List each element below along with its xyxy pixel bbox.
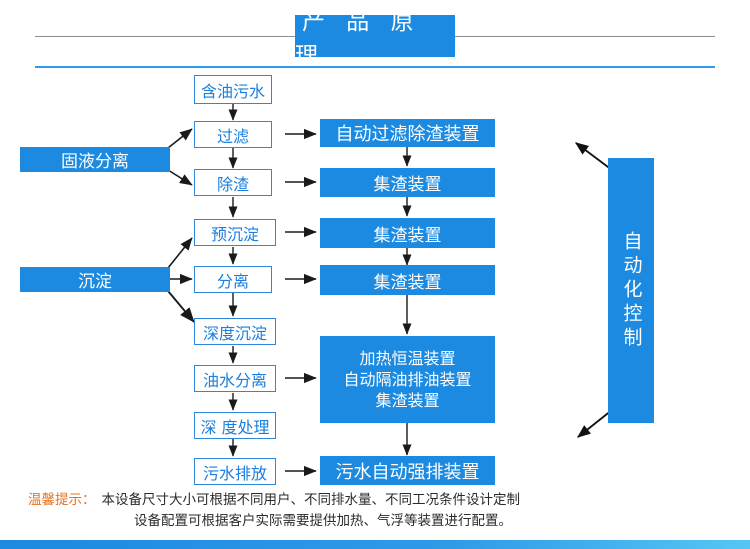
flow-node-deslagging: 除渣 — [194, 169, 272, 196]
flow-node-deep-sedimentation: 深度沉淀 — [194, 318, 276, 345]
device-group-line-2: 自动隔油排油装置 — [343, 369, 471, 390]
flow-node-advanced-treatment: 深 度处理 — [194, 412, 276, 439]
device-slag-collector-3: 集渣装置 — [320, 265, 495, 295]
flow-node-pre-sedimentation: 预沉淀 — [194, 219, 276, 246]
flow-node-separation: 分离 — [194, 266, 272, 293]
footer-tip: 温馨提示：本设备尺寸大小可根据不同用户、不同排水量、不同工况条件设计定制 设备配… — [28, 490, 728, 532]
header-divider — [35, 66, 715, 68]
device-auto-filter-deslagging-unit: 自动过滤除渣装置 — [320, 119, 495, 147]
device-slag-collector-2: 集渣装置 — [320, 218, 495, 248]
device-auto-forced-discharge-unit: 污水自动强排装置 — [320, 456, 495, 485]
product-principle-diagram: 产 品 原 理 — [0, 0, 750, 549]
flow-node-filtration: 过滤 — [194, 121, 272, 148]
device-group-line-3: 集渣装置 — [375, 390, 439, 411]
flow-node-oil-water-separation: 油水分离 — [194, 365, 276, 392]
automation-control-panel: 自动化控制 — [608, 158, 654, 423]
device-slag-collector-1: 集渣装置 — [320, 168, 495, 197]
automation-control-label: 自动化控制 — [622, 231, 641, 351]
stage-label-sedimentation: 沉淀 — [20, 267, 170, 292]
flow-node-oily-wastewater: 含油污水 — [194, 75, 272, 104]
device-group-line-1: 加热恒温装置 — [359, 348, 455, 369]
tip-label: 温馨提示： — [28, 492, 96, 508]
flow-node-wastewater-discharge: 污水排放 — [194, 458, 276, 485]
device-heating-oil-separation-group: 加热恒温装置 自动隔油排油装置 集渣装置 — [320, 336, 495, 423]
header-rule-right — [455, 36, 715, 37]
page-title: 产 品 原 理 — [295, 15, 455, 57]
bottom-accent-bar — [0, 540, 750, 549]
tip-line-2: 设备配置可根据客户实际需要提供加热、气浮等装置进行配置。 — [28, 511, 728, 532]
stage-label-solid-liquid-separation: 固液分离 — [20, 147, 170, 172]
header-rule-left — [35, 36, 295, 37]
tip-line-1: 本设备尺寸大小可根据不同用户、不同排水量、不同工况条件设计定制 — [102, 492, 521, 508]
